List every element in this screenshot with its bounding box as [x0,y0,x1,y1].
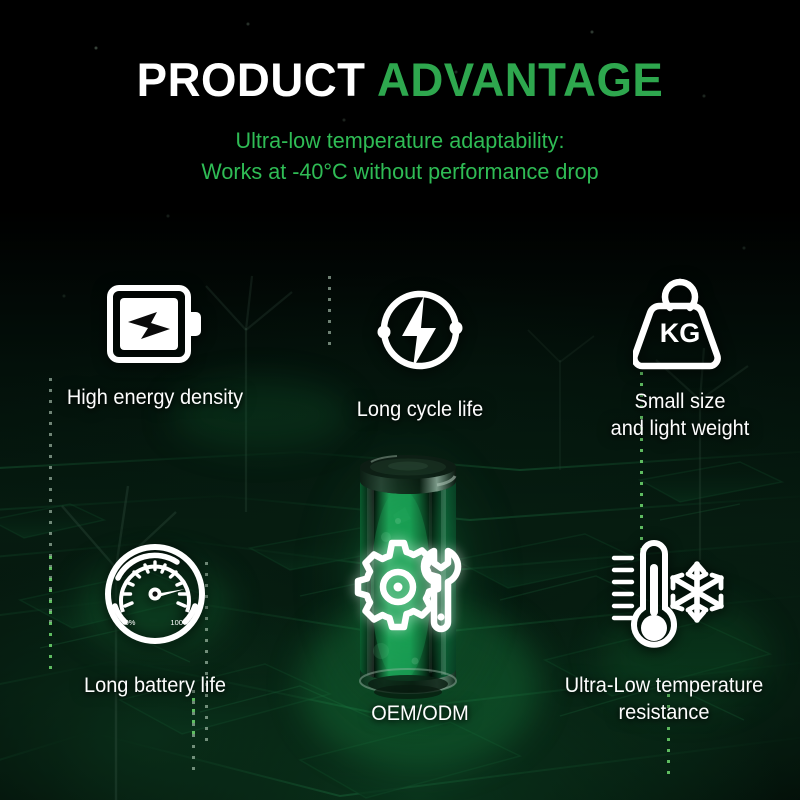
header: PRODUCT ADVANTAGE Ultra-low temperature … [0,56,800,187]
feature-label: Ultra-Low temperature resistance [535,672,793,726]
feature-oem-odm: OEM/ODM [320,700,520,727]
gauge-min-label: 0% [125,618,136,627]
feature-label: Long battery life [36,672,274,699]
feature-ultra-low-temperature-resistance: Ultra-Low temperature resistance [528,540,800,726]
feature-label-line-1: Small size [566,388,794,415]
thermometer-snowflake-icon [528,540,800,656]
gauge-max-label: 100% [170,618,190,627]
feature-label-line-2: resistance [535,699,793,726]
kg-weight-icon: KG [560,276,800,374]
title-word-advantage: ADVANTAGE [377,53,663,106]
gear-wrench-icon [348,533,470,637]
page-title: PRODUCT ADVANTAGE [12,56,788,103]
subtitle-line-1: Ultra-low temperature adaptability: [16,125,784,156]
product-advantage-banner: PRODUCT ADVANTAGE Ultra-low temperature … [0,0,800,800]
cycle-bolt-icon [320,280,520,380]
feature-label-line-2: and light weight [566,415,794,442]
feature-label: Small size and light weight [566,388,794,442]
gauge-icon: 0% 100% [30,540,280,648]
feature-label-line-1: Ultra-Low temperature [535,672,793,699]
trace-line-2-green [192,698,195,742]
feature-high-energy-density: High energy density [20,282,290,411]
feature-small-size-light-weight: KG Small size and light weight [560,276,800,442]
feature-label: Long cycle life [325,396,515,423]
battery-bolt-icon [20,282,290,366]
subtitle-line-2: Works at -40°C without performance drop [16,156,784,187]
feature-long-battery-life: 0% 100% Long battery life [30,540,280,699]
feature-label: OEM/ODM [325,700,515,727]
feature-label: High energy density [27,384,284,411]
feature-long-cycle-life: Long cycle life [320,280,520,423]
subtitle: Ultra-low temperature adaptability: Work… [16,125,784,187]
cylindrical-battery-cell [353,455,463,705]
title-word-product: PRODUCT [137,53,366,106]
kg-badge-text: KG [660,318,701,348]
